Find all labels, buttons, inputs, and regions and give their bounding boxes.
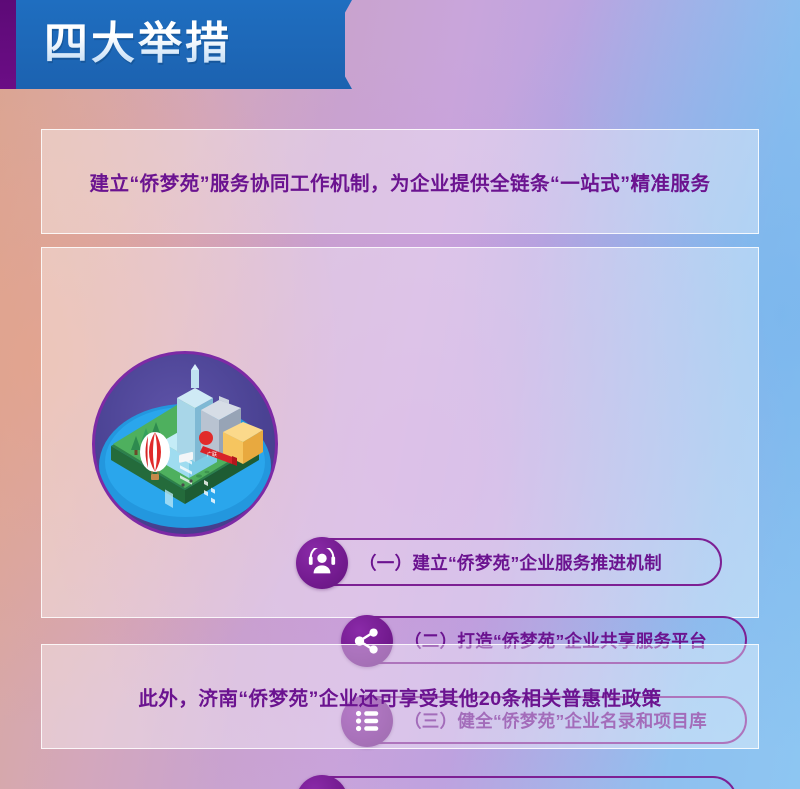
measure-item-1[interactable]: （一）建立“侨梦苑”企业服务推进机制 — [297, 538, 722, 586]
top-statement-text: 建立“侨梦苑”服务协同工作机制，为企业提供全链条“一站式”精准服务 — [89, 167, 710, 196]
page-title: 四大举措 — [44, 11, 232, 77]
isometric-city-svg: 广联 — [95, 354, 275, 534]
measures-card: 广联 — [41, 247, 759, 618]
header-banner: 四大举措 — [0, 0, 800, 89]
measure-item-4[interactable]: （四）深化“侨梦苑”企业“放管服”改革 — [297, 776, 737, 789]
banner-left-stub — [0, 0, 16, 89]
measure-item-1-label: （一）建立“侨梦苑”企业服务推进机制 — [359, 550, 662, 575]
top-statement-card: 建立“侨梦苑”服务协同工作机制，为企业提供全链条“一站式”精准服务 — [41, 129, 759, 234]
isometric-city-illustration: 广联 — [92, 351, 278, 537]
browser-wrench-icon — [296, 775, 348, 789]
bottom-note-text: 此外，济南“侨梦苑”企业还可享受其他20条相关普惠性政策 — [138, 682, 661, 711]
svg-text:广联: 广联 — [207, 451, 217, 458]
headset-person-icon — [296, 537, 348, 589]
infographic-poster: 四大举措 建立“侨梦苑”服务协同工作机制，为企业提供全链条“一站式”精准服务 — [0, 0, 800, 789]
bottom-note-card: 此外，济南“侨梦苑”企业还可享受其他20条相关普惠性政策 — [41, 644, 759, 749]
